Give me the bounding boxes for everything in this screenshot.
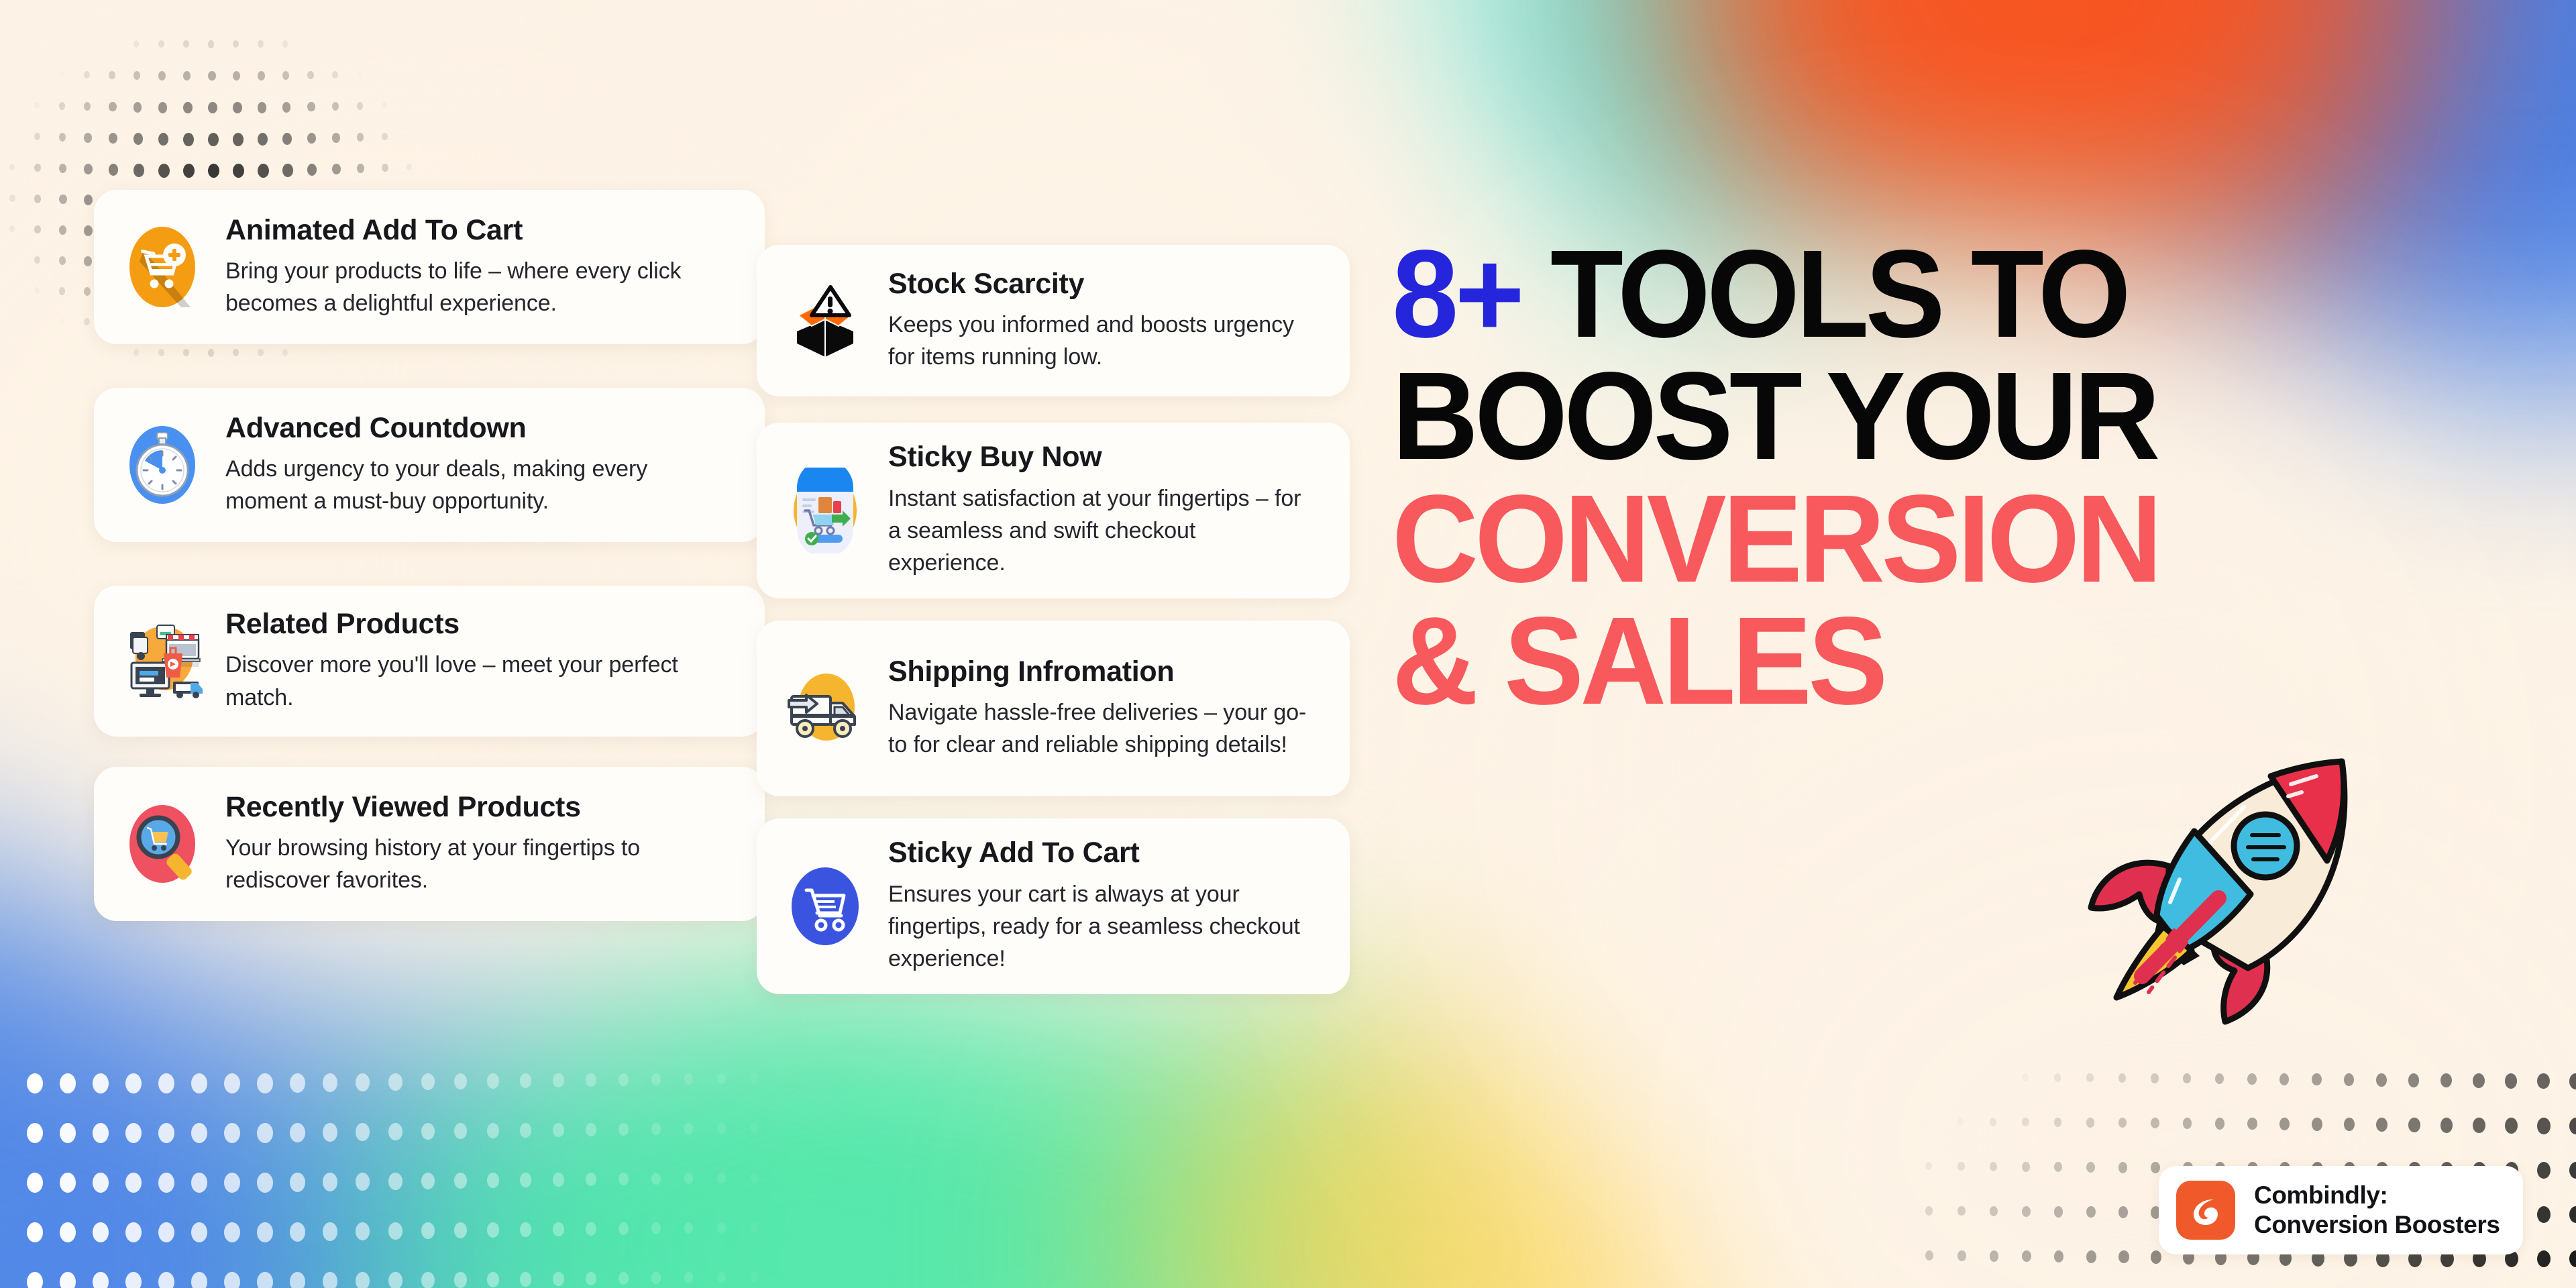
card-description: Navigate hassle-free deliveries – your g… [888,696,1319,761]
headline-line-1: 8+ TOOLS TO [1392,233,2487,356]
logo-name-line2: Conversion Boosters [2254,1210,2500,1240]
card-description: Ensures your cart is always at your fing… [888,878,1319,975]
feature-card-animated-add-to-cart[interactable]: Animated Add To Cart Bring your products… [94,190,765,344]
shopping-cart-plus-icon [119,224,205,310]
card-title: Sticky Add To Cart [888,837,1319,868]
card-description: Keeps you informed and boosts urgency fo… [888,309,1319,374]
card-title: Sticky Buy Now [888,441,1319,472]
logo-name-line1: Combindly: [2254,1181,2500,1210]
card-description: Discover more you'll love – meet your pe… [225,649,734,714]
card-description: Adds urgency to your deals, making every… [225,453,734,518]
warning-box-icon [782,278,868,364]
headline-line-3: CONVERSION [1392,478,2487,600]
rocket-illustration [2049,735,2398,1033]
card-description: Instant satisfaction at your fingertips … [888,482,1319,580]
card-title: Animated Add To Cart [225,215,734,246]
combindly-flame-icon [2176,1181,2235,1240]
headline-badge-number: 8+ [1392,225,1521,364]
headline-line-2: BOOST YOUR [1392,356,2487,478]
feature-card-advanced-countdown[interactable]: Advanced Countdown Adds urgency to your … [94,388,765,542]
stopwatch-icon [119,422,205,508]
logo-text: Combindly: Conversion Boosters [2254,1181,2500,1239]
card-description: Bring your products to life – where ever… [225,255,734,320]
feature-card-sticky-buy-now[interactable]: Sticky Buy Now Instant satisfaction at y… [757,423,1350,598]
logo-badge[interactable]: Combindly: Conversion Boosters [2159,1166,2523,1254]
headline-line-1-rest: TOOLS TO [1521,225,2127,364]
card-title: Shipping Infromation [888,656,1319,687]
shopping-cart-icon [782,863,868,949]
card-description: Your browsing history at your fingertips… [225,832,734,897]
buy-now-screen-icon [782,468,868,553]
feature-card-shipping-information[interactable]: Shipping Infromation Navigate hassle-fre… [757,621,1350,796]
delivery-truck-icon [782,665,868,751]
ecommerce-devices-icon [119,619,205,704]
magnifier-cart-icon [119,801,205,887]
feature-card-stock-scarcity[interactable]: Stock Scarcity Keeps you informed and bo… [757,245,1350,396]
headline: 8+ TOOLS TO BOOST YOUR CONVERSION & SALE… [1392,233,2532,722]
card-title: Stock Scarcity [888,268,1319,299]
feature-card-related-products[interactable]: Related Products Discover more you'll lo… [94,586,765,737]
card-title: Recently Viewed Products [225,792,734,822]
feature-card-sticky-add-to-cart[interactable]: Sticky Add To Cart Ensures your cart is … [757,818,1350,994]
headline-line-4: & SALES [1392,600,2487,722]
card-title: Advanced Countdown [225,413,734,443]
card-title: Related Products [225,608,734,639]
feature-card-recently-viewed-products[interactable]: Recently Viewed Products Your browsing h… [94,767,765,921]
